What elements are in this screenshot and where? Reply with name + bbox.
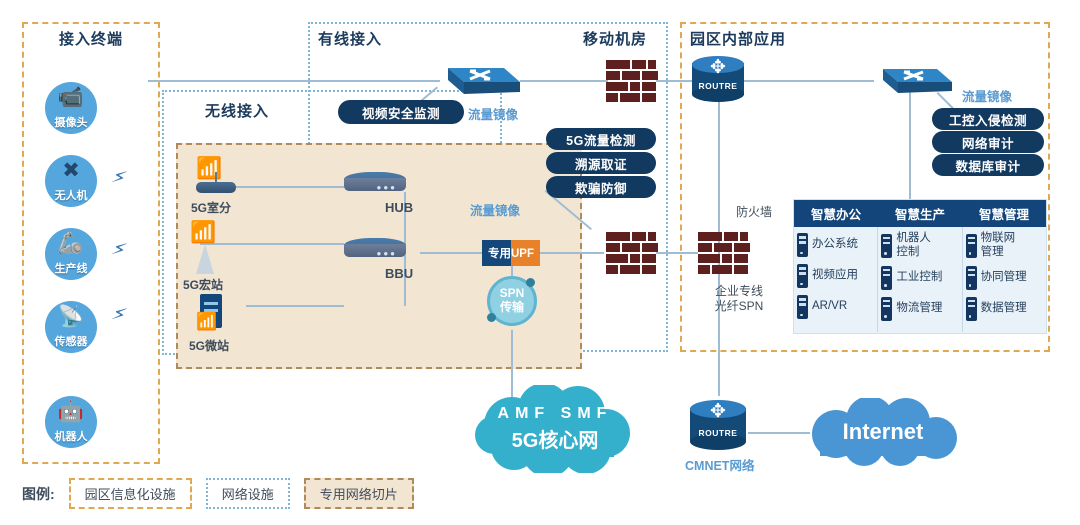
application-columns: 办公系统 视频应用 AR/VR 机器人控制 工业控制 bbox=[794, 227, 1046, 332]
app-header-smart-management: 智慧管理 bbox=[962, 200, 1046, 227]
internet-cloud-text: Internet bbox=[800, 398, 966, 466]
production-line-icon: 🦾 bbox=[45, 233, 97, 254]
bbu-label: BBU bbox=[385, 266, 413, 281]
legend-item-network-facility: 网络设施 bbox=[206, 478, 290, 509]
router-arrows-icon: ✥ bbox=[692, 58, 744, 77]
server-icon bbox=[966, 266, 977, 290]
list-item[interactable]: 物联网管理 bbox=[966, 232, 1043, 260]
connector-terminal-bus bbox=[148, 80, 150, 82]
list-item[interactable]: 物流管理 bbox=[881, 296, 958, 322]
terminal-label: 无人机 bbox=[55, 187, 88, 203]
connector-switch-to-apps bbox=[909, 92, 911, 202]
internet-cloud: Internet bbox=[800, 398, 966, 466]
app-column-smart-office: 办公系统 视频应用 AR/VR bbox=[794, 227, 877, 332]
ent-line1: 企业专线 bbox=[715, 284, 763, 298]
connector-upf-to-firewall bbox=[540, 252, 604, 254]
dedicated-upf[interactable]: 专用UPF bbox=[482, 240, 540, 266]
campus-router[interactable]: ✥ ROUTRE bbox=[692, 56, 744, 102]
ent-line2: 光纤SPN bbox=[715, 299, 764, 313]
server-icon bbox=[966, 234, 977, 258]
list-item[interactable]: AR/VR bbox=[797, 294, 874, 320]
amf-label: AMF bbox=[498, 405, 551, 422]
firewall-label: 防火墙 bbox=[736, 205, 772, 220]
connector-top-trunk-mid bbox=[520, 80, 608, 82]
video-security-badge[interactable]: 视频安全监测 bbox=[338, 100, 464, 124]
core-cloud-text: AMF SMF 5G核心网 bbox=[470, 385, 640, 473]
sensor-icon: 📡 bbox=[45, 306, 97, 327]
slice-badge-5g-traffic-detect[interactable]: 5G流量检测 bbox=[546, 128, 656, 150]
spn-transmission[interactable]: SPN 传输 bbox=[487, 276, 537, 326]
server-icon bbox=[797, 264, 808, 288]
legend-item-campus-infra: 园区信息化设施 bbox=[69, 478, 192, 509]
connector-micro-to-bbu bbox=[246, 305, 344, 307]
terminal-label: 传感器 bbox=[55, 333, 88, 349]
app-item-label: 数据管理 bbox=[981, 302, 1027, 316]
legend: 图例: 园区信息化设施 网络设施 专用网络切片 bbox=[22, 478, 414, 509]
list-item[interactable]: 协同管理 bbox=[966, 265, 1043, 291]
wireless-node-label: 5G室分 bbox=[191, 199, 231, 216]
terminal-label: 生产线 bbox=[55, 260, 88, 276]
app-item-label: AR/VR bbox=[812, 300, 847, 314]
enterprise-firewall-icon bbox=[698, 232, 750, 274]
spn-label: SPN 传输 bbox=[487, 276, 537, 326]
terminal-robot[interactable]: 🤖 机器人 bbox=[45, 396, 97, 448]
app-item-label: 办公系统 bbox=[812, 238, 858, 252]
server-icon bbox=[797, 233, 808, 257]
terminal-label: 摄像头 bbox=[55, 114, 88, 130]
traffic-mirror-label: 流量镜像 bbox=[468, 104, 518, 123]
led-indicator: ●●● bbox=[377, 183, 398, 192]
macro-station-icon[interactable] bbox=[196, 244, 214, 274]
wireless-node-label: 5G微站 bbox=[189, 337, 229, 354]
wireless-node-label: 5G宏站 bbox=[183, 276, 223, 293]
region-access-terminal-title: 接入终端 bbox=[22, 28, 160, 49]
cmnet-caption: CMNET网络 bbox=[685, 455, 754, 474]
firewall-icon bbox=[606, 60, 658, 102]
campus-badge-network-audit[interactable]: 网络审计 bbox=[932, 131, 1044, 153]
app-item-label: 机器人控制 bbox=[896, 232, 931, 260]
server-icon bbox=[966, 297, 977, 321]
application-panel: 智慧办公 智慧生产 智慧管理 办公系统 视频应用 AR/VR bbox=[793, 199, 1047, 334]
camera-icon: 📹 bbox=[45, 87, 97, 108]
region-wireless-access-title: 无线接入 bbox=[162, 100, 312, 121]
upf-label: 专用UPF bbox=[482, 240, 540, 266]
switch-icon[interactable] bbox=[432, 58, 520, 98]
terminal-label: 机器人 bbox=[55, 428, 88, 444]
robot-icon: 🤖 bbox=[45, 401, 97, 422]
app-header-smart-production: 智慧生产 bbox=[878, 200, 962, 227]
list-item[interactable]: 数据管理 bbox=[966, 296, 1043, 322]
slice-badge-deception-defense[interactable]: 欺骗防御 bbox=[546, 176, 656, 198]
app-item-label: 协同管理 bbox=[981, 271, 1027, 285]
terminal-camera[interactable]: 📹 摄像头 bbox=[45, 82, 97, 134]
app-header-smart-office: 智慧办公 bbox=[794, 200, 878, 227]
router-arrows-icon: ✥ bbox=[690, 402, 746, 421]
terminal-drone[interactable]: ✖ 无人机 bbox=[45, 155, 97, 207]
led-indicator: ●●● bbox=[377, 249, 398, 258]
app-item-label: 物联网管理 bbox=[981, 232, 1016, 260]
application-panel-header: 智慧办公 智慧生产 智慧管理 bbox=[794, 200, 1046, 227]
core-cloud-title: 5G核心网 bbox=[512, 424, 599, 453]
list-item[interactable]: 工业控制 bbox=[881, 265, 958, 291]
list-item[interactable]: 视频应用 bbox=[797, 263, 874, 289]
slice-traffic-mirror-label: 流量镜像 bbox=[470, 200, 520, 219]
wifi-signal-icon: 📶 bbox=[190, 222, 216, 243]
internet-label: Internet bbox=[843, 419, 924, 445]
core-network-cloud: AMF SMF 5G核心网 bbox=[470, 385, 640, 473]
enterprise-spn-line-label: 企业专线 光纤SPN bbox=[702, 284, 776, 314]
campus-badge-ics-intrusion[interactable]: 工控入侵检测 bbox=[932, 108, 1044, 130]
region-mobile-room-title: 移动机房 bbox=[560, 28, 670, 49]
region-wired-access-title: 有线接入 bbox=[318, 28, 438, 49]
firewall-icon bbox=[606, 232, 658, 274]
app-column-smart-production: 机器人控制 工业控制 物流管理 bbox=[877, 227, 961, 332]
connector-bbu-to-upf bbox=[420, 252, 486, 254]
connector-top-trunk-left bbox=[148, 80, 440, 82]
smf-label: SMF bbox=[561, 405, 613, 422]
app-column-smart-management: 物联网管理 协同管理 数据管理 bbox=[962, 227, 1046, 332]
spn-line1: SPN bbox=[500, 287, 525, 301]
app-item-label: 视频应用 bbox=[812, 269, 858, 283]
cmnet-router[interactable]: ✥ ROUTRE bbox=[690, 400, 746, 450]
hub-icon[interactable]: ●●● bbox=[344, 172, 406, 198]
connector-indoor-to-hub bbox=[228, 186, 344, 188]
connector-macro-to-bbu bbox=[200, 243, 344, 245]
server-icon bbox=[797, 295, 808, 319]
campus-traffic-mirror-label: 流量镜像 bbox=[962, 86, 1012, 105]
legend-title: 图例: bbox=[22, 484, 55, 504]
router-label: ROUTRE bbox=[692, 81, 744, 91]
list-item[interactable]: 办公系统 bbox=[797, 232, 874, 258]
server-icon bbox=[881, 234, 892, 258]
terminal-sensor[interactable]: 📡 传感器 bbox=[45, 301, 97, 353]
indoor-ap-icon[interactable] bbox=[196, 182, 236, 193]
spn-line2: 传输 bbox=[500, 301, 524, 315]
hub-label: HUB bbox=[385, 200, 413, 215]
campus-badge-db-audit[interactable]: 数据库审计 bbox=[932, 154, 1044, 176]
diagram-canvas: 接入终端 有线接入 移动机房 园区内部应用 无线接入 📹 摄像头 ✖ 无人机 bbox=[0, 0, 1080, 525]
region-campus-app-title: 园区内部应用 bbox=[690, 28, 820, 49]
wifi-signal-icon: 📶 bbox=[196, 313, 217, 330]
wifi-signal-icon: 📶 bbox=[196, 158, 222, 179]
drone-icon: ✖ bbox=[45, 160, 97, 181]
campus-switch-icon[interactable] bbox=[868, 60, 952, 98]
app-item-label: 物流管理 bbox=[896, 302, 942, 316]
server-icon bbox=[881, 297, 892, 321]
list-item[interactable]: 机器人控制 bbox=[881, 232, 958, 260]
connector-router-to-switch bbox=[742, 80, 874, 82]
server-icon bbox=[881, 266, 892, 290]
legend-item-network-slice: 专用网络切片 bbox=[304, 478, 414, 509]
bbu-icon[interactable]: ●●● bbox=[344, 238, 406, 264]
connector-firewall-to-ent bbox=[656, 252, 698, 254]
app-item-label: 工业控制 bbox=[896, 271, 942, 285]
terminal-production-line[interactable]: 🦾 生产线 bbox=[45, 228, 97, 280]
slice-badge-trace-forensics[interactable]: 溯源取证 bbox=[546, 152, 656, 174]
router-label: ROUTRE bbox=[690, 428, 746, 438]
